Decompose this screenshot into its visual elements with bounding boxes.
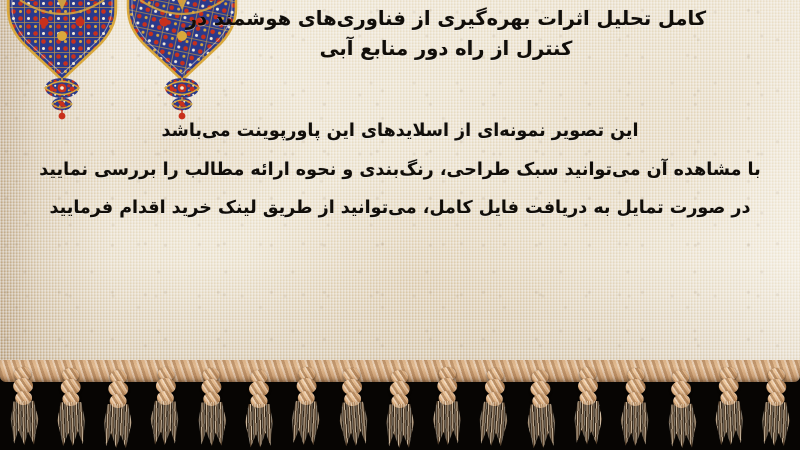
tassel bbox=[141, 366, 188, 448]
slide-body-line-2: با مشاهده آن می‌توانید سبک طراحی، رنگ‌بن… bbox=[14, 151, 786, 190]
tassel bbox=[566, 367, 610, 447]
tassel bbox=[612, 367, 658, 448]
tassel bbox=[470, 367, 517, 449]
tassel-skirt bbox=[432, 400, 463, 444]
tassel bbox=[48, 368, 93, 449]
persian-illumination-medallion-left-icon bbox=[2, 0, 122, 124]
tassel bbox=[659, 369, 706, 450]
tassel-skirt bbox=[148, 400, 180, 445]
tassel-skirt bbox=[714, 400, 745, 444]
tassel bbox=[424, 366, 469, 447]
tassel bbox=[189, 367, 235, 448]
tassel-skirt bbox=[619, 402, 650, 447]
slide-body-line-3: در صورت تمایل به دریافت فایل کامل، می‌تو… bbox=[14, 189, 786, 228]
slide-title-line-2: کنترل از راه دور منابع آبی bbox=[110, 34, 782, 64]
tassel-skirt bbox=[667, 403, 699, 448]
tassel-skirt bbox=[197, 402, 228, 447]
tassel-skirt bbox=[290, 400, 321, 445]
knotted-rope-tassel-fringe bbox=[0, 360, 800, 450]
slide-body-text: این تصویر نمونه‌ای از اسلایدهای این پاور… bbox=[14, 112, 786, 228]
tassel-skirt bbox=[102, 403, 133, 447]
slide-body-line-1: این تصویر نمونه‌ای از اسلایدهای این پاور… bbox=[14, 112, 786, 151]
presentation-slide: کامل تحلیل اثرات بهره‌گیری از فناوری‌های… bbox=[0, 0, 800, 450]
tassel bbox=[95, 369, 140, 450]
slide-title: کامل تحلیل اثرات بهره‌گیری از فناوری‌های… bbox=[110, 4, 782, 64]
tassel-skirt bbox=[478, 401, 510, 446]
tassel-skirt bbox=[8, 400, 40, 445]
tassel bbox=[707, 366, 752, 447]
tassel-skirt bbox=[244, 404, 274, 448]
tassel bbox=[0, 366, 47, 448]
slide-title-line-1: کامل تحلیل اثرات بهره‌گیری از فناوری‌های… bbox=[110, 4, 782, 34]
tassel bbox=[518, 369, 564, 450]
tassel bbox=[283, 366, 329, 447]
tassel-skirt bbox=[385, 403, 416, 447]
tassel bbox=[377, 369, 422, 450]
tassel-skirt bbox=[761, 402, 792, 446]
tassel-skirt bbox=[55, 402, 86, 446]
tassel bbox=[237, 370, 281, 450]
tassel-skirt bbox=[526, 403, 557, 448]
tassel-skirt bbox=[338, 401, 370, 446]
tassel-skirt bbox=[573, 401, 603, 445]
tassel bbox=[754, 368, 799, 449]
tassel bbox=[329, 367, 376, 449]
